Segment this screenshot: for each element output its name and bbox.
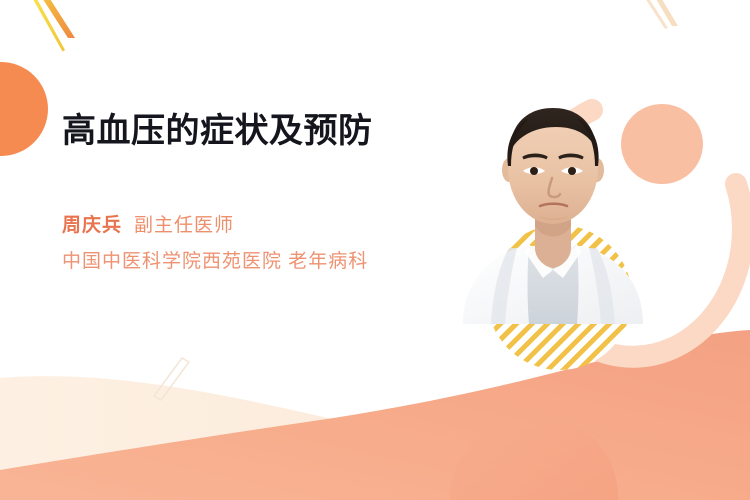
slide-canvas: 高血压的症状及预防 周庆兵副主任医师 中国中医科学院西苑医院 老年病科 — [0, 0, 750, 500]
doctor-rank: 副主任医师 — [134, 215, 234, 236]
doctor-name: 周庆兵 — [62, 215, 122, 236]
diagonal-streaks-top-right — [630, 0, 720, 52]
slide-text-block: 高血压的症状及预防 周庆兵副主任医师 中国中医科学院西苑医院 老年病科 — [62, 110, 412, 280]
page-title: 高血压的症状及预防 — [62, 110, 412, 153]
byline: 周庆兵副主任医师 中国中医科学院西苑医院 老年病科 — [62, 208, 412, 280]
doctor-affiliation: 中国中医科学院西苑医院 老年病科 — [62, 244, 412, 280]
orange-circle — [0, 62, 48, 156]
doctor-portrait — [455, 96, 651, 324]
diagonal-streaks-top-left — [18, 0, 128, 64]
faint-diagonal-sliver — [142, 352, 202, 406]
